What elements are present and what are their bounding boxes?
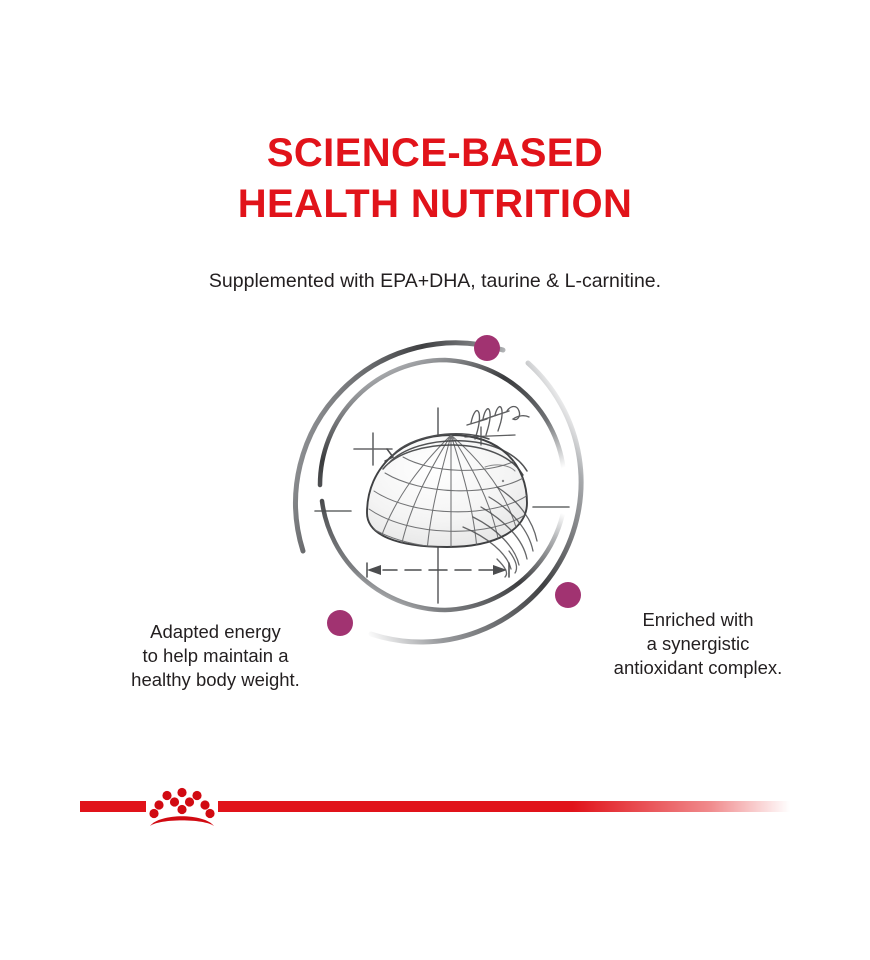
orbit-dot-right [555,582,581,608]
brand-bar-left [80,801,146,812]
antioxidant-caption: Enriched with a synergistic antioxidant … [548,608,848,680]
antioxidant-caption-line-2: a synergistic [548,632,848,656]
crown-base-arc [150,816,214,826]
page-title: SCIENCE-BASED HEALTH NUTRITION [0,128,870,230]
brand-bar-right [218,801,790,812]
royal-canin-crown-logo [149,788,214,826]
page-title-line-1: SCIENCE-BASED [0,128,870,179]
kibble-design-sketch-illustration [275,315,615,655]
orbit-dot-top [474,335,500,361]
adapted-energy-caption-line-3: healthy body weight. [78,668,353,692]
royal-canin-brand-bar [0,782,870,838]
adapted-energy-caption-line-1: Adapted energy [78,620,353,644]
antioxidant-caption-line-1: Enriched with [548,608,848,632]
adapted-energy-caption-line-2: to help maintain a [78,644,353,668]
handwritten-annotation-scribble [465,407,529,446]
page-title-line-2: HEALTH NUTRITION [0,179,870,230]
adapted-energy-caption: Adapted energy to help maintain a health… [78,620,353,692]
subtitle: Supplemented with EPA+DHA, taurine & L-c… [0,268,870,294]
antioxidant-caption-line-3: antioxidant complex. [548,656,848,680]
